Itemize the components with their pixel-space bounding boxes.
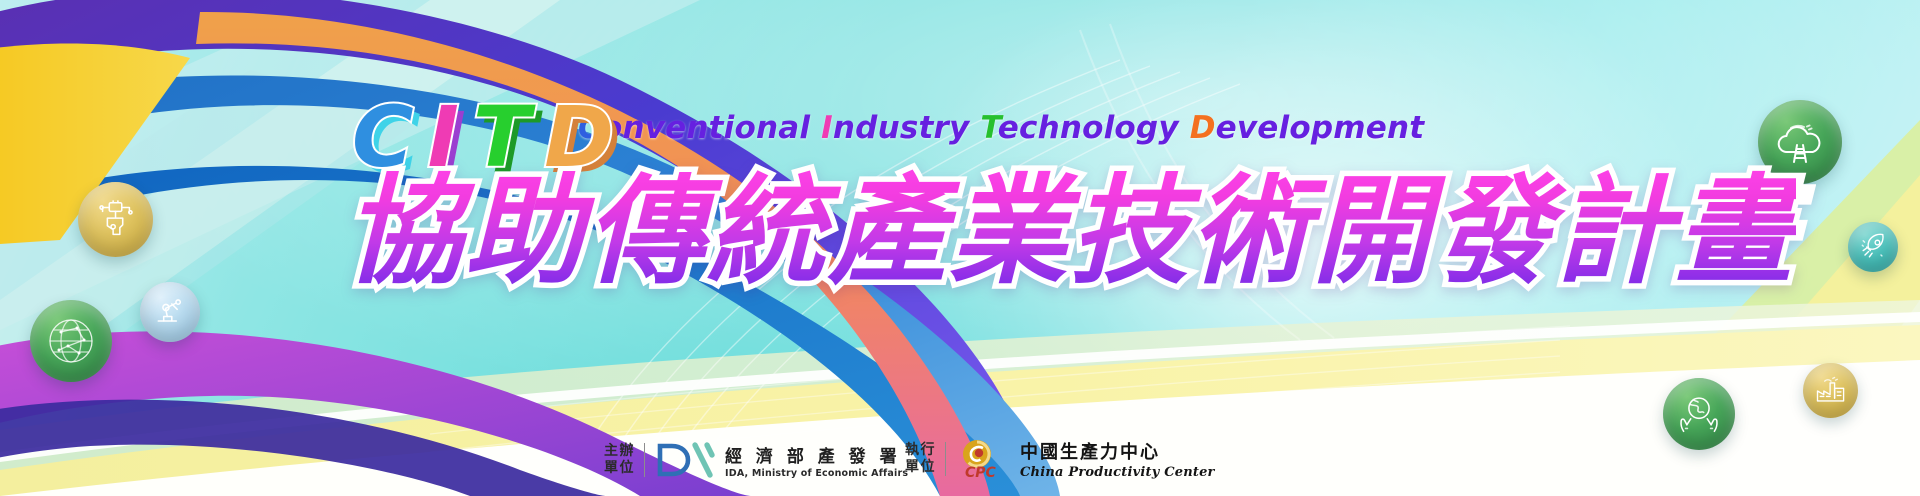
- subtitle-part: echnology: [998, 110, 1190, 146]
- executor-name-group: 中國生產力中心 China Productivity Center: [1020, 438, 1215, 480]
- executor-name-en: China Productivity Center: [1020, 465, 1215, 480]
- globe-network-icon: [43, 313, 99, 369]
- rocket-icon: [1857, 231, 1889, 263]
- rocket-badge: [1848, 222, 1898, 272]
- ai-chip-head-icon: [93, 197, 139, 243]
- robot-arm-badge: [140, 282, 200, 342]
- subtitle-part: onventional: [601, 110, 821, 146]
- organizer-name-cn: 經 濟 部 產 發 署: [725, 442, 908, 467]
- cpc-wordmark: CPC: [965, 465, 997, 480]
- executor-role-label: 執行 單位: [905, 442, 936, 476]
- executor-role-line1: 執行: [905, 442, 936, 459]
- executor-name-cn: 中國生產力中心: [1020, 438, 1215, 464]
- hands-globe-icon: [1674, 389, 1724, 439]
- factory-icon: [1813, 373, 1849, 409]
- subtitle-part: D: [1190, 110, 1216, 146]
- organizer-name-group: 經 濟 部 產 發 署 IDA, Ministry of Economic Af…: [725, 442, 908, 479]
- robot-arm-icon: [152, 294, 188, 330]
- subtitle-part: ndustry: [833, 110, 981, 146]
- ida-logo-icon: [654, 440, 716, 480]
- program-title-text: 協助傳統產業技術開發計畫: [344, 162, 1796, 300]
- hands-globe-badge: [1663, 378, 1735, 450]
- executor-divider: [945, 442, 946, 476]
- factory-badge: [1803, 363, 1858, 418]
- citd-program-banner: C I T D Conventional Industry Technology…: [0, 0, 1920, 496]
- ai-chip-head-badge: [78, 182, 153, 257]
- organizer-logo-block: 主辦 單位 經 濟 部 產 發 署 IDA, Ministry of Econo…: [604, 440, 908, 480]
- executor-logo-block: 執行 單位 CPC 中國生產力中心 China Productivity Cen…: [905, 438, 1215, 480]
- program-subtitle-english: Conventional Industry Technology Develop…: [578, 110, 1424, 146]
- organizer-role-line2: 單位: [604, 460, 635, 477]
- program-title-chinese: 協助傳統產業技術開發計畫: [344, 168, 1796, 295]
- cpc-logo-icon: CPC: [955, 438, 1011, 480]
- organizer-role-line1: 主辦: [604, 443, 635, 460]
- subtitle-part: evelopment: [1216, 110, 1425, 146]
- subtitle-part: T: [980, 110, 997, 146]
- organizer-divider: [644, 443, 645, 477]
- organizer-name-en: IDA, Ministry of Economic Affairs: [725, 468, 908, 479]
- executor-role-line2: 單位: [905, 459, 936, 476]
- subtitle-part: I: [821, 110, 833, 146]
- globe-network-badge: [30, 300, 112, 382]
- organizer-role-label: 主辦 單位: [604, 443, 635, 477]
